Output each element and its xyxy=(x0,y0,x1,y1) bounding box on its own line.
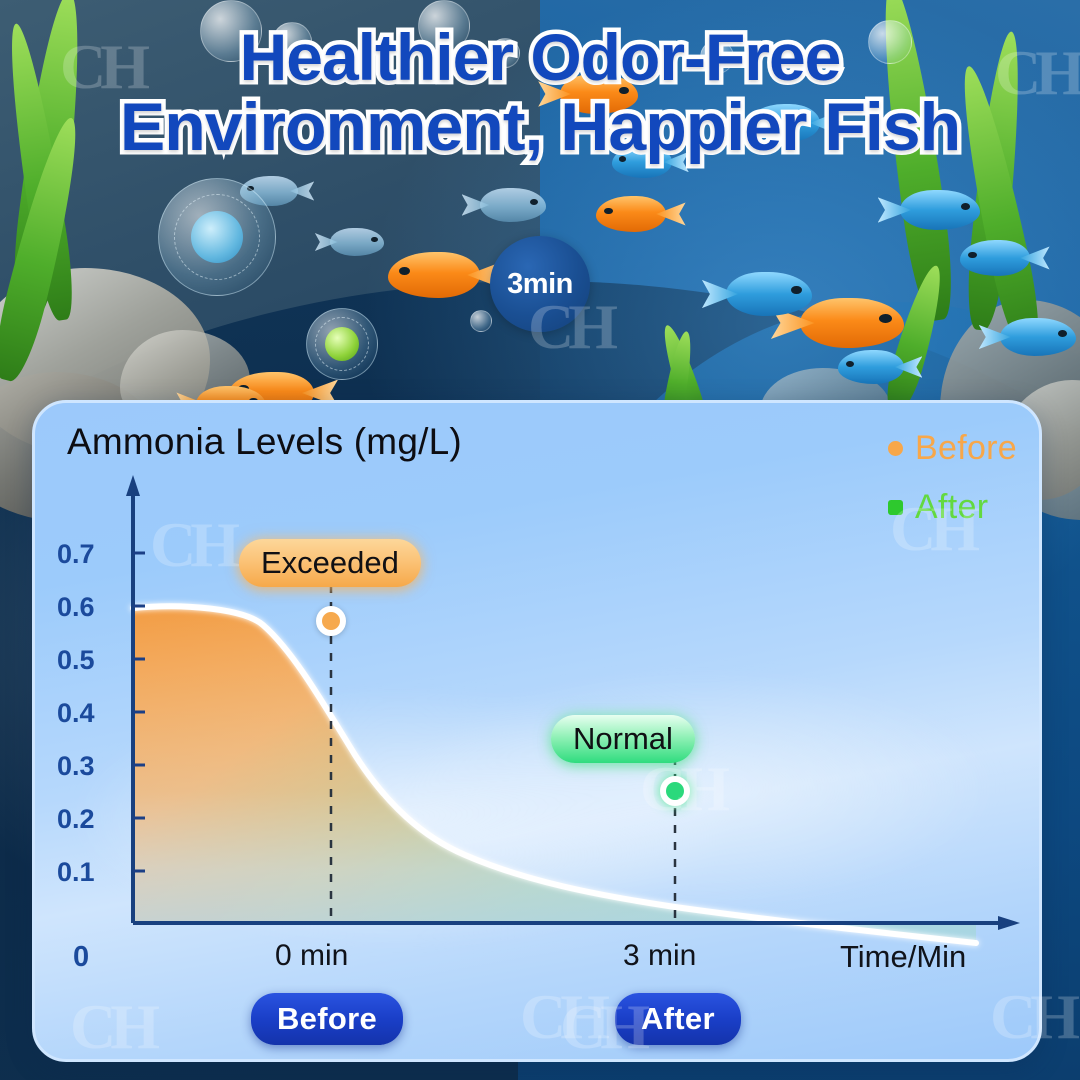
x-axis-arrow xyxy=(998,916,1020,930)
state-pill-after[interactable]: After xyxy=(615,993,741,1045)
data-point-marker-after[interactable] xyxy=(660,776,690,806)
y-tick-label-0.7: 0.7 xyxy=(57,539,95,570)
fish xyxy=(960,240,1030,276)
fish xyxy=(900,190,980,230)
annotation-normal: Normal xyxy=(551,715,695,763)
annotation-exceeded: Exceeded xyxy=(239,539,421,587)
fish xyxy=(330,228,384,256)
y-tick-label-0.2: 0.2 xyxy=(57,804,95,835)
area-series-fade xyxy=(133,606,976,943)
y-tick-label-0.3: 0.3 xyxy=(57,751,95,782)
state-pill-before[interactable]: Before xyxy=(251,993,403,1045)
fish xyxy=(596,196,666,232)
y-axis-arrow xyxy=(126,475,140,496)
fish xyxy=(838,350,904,384)
x-axis-title: Time/Min xyxy=(840,939,966,975)
x-tick-label-0min: 0 min xyxy=(275,939,348,973)
y-tick-label-0.4: 0.4 xyxy=(57,698,95,729)
y-tick-label-0.1: 0.1 xyxy=(57,857,95,888)
microbe-icon xyxy=(306,308,378,380)
page-title: Healthier Odor-Free Environment, Happier… xyxy=(0,24,1080,162)
bubble-decoration xyxy=(470,310,492,332)
microbe-icon xyxy=(158,178,276,296)
y-tick-label-0.6: 0.6 xyxy=(57,592,95,623)
chart-card: Ammonia Levels (mg/L) Before After xyxy=(32,400,1042,1062)
timer-badge-label: 3min xyxy=(507,268,573,301)
timer-badge: 3min xyxy=(490,236,590,332)
axis-origin-label: 0 xyxy=(73,941,89,974)
fish xyxy=(800,298,904,348)
headline-line-2: Environment, Happier Fish xyxy=(0,92,1080,162)
data-point-marker-before[interactable] xyxy=(316,606,346,636)
y-tick-label-0.5: 0.5 xyxy=(57,645,95,676)
fish xyxy=(480,188,546,222)
x-tick-label-3min: 3 min xyxy=(623,939,696,973)
fish xyxy=(388,252,480,298)
headline-line-1: Healthier Odor-Free xyxy=(0,24,1080,92)
fish xyxy=(726,272,812,316)
fish xyxy=(1000,318,1076,356)
